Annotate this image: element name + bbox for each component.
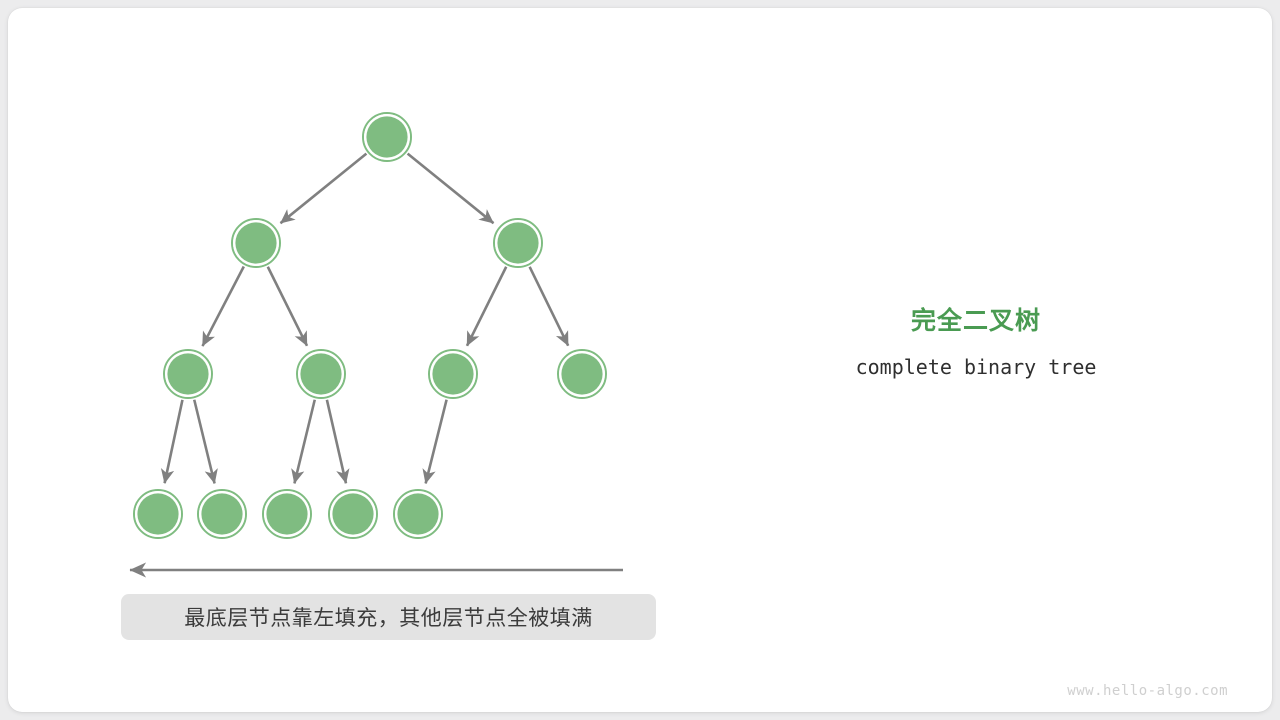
tree-node — [394, 490, 442, 538]
tree-node-disc — [137, 493, 178, 534]
tree-node — [558, 350, 606, 398]
tree-node-disc — [167, 353, 208, 394]
tree-node — [363, 113, 411, 161]
tree-node — [164, 350, 212, 398]
tree-edge — [467, 267, 506, 346]
diagram-card: 完全二叉树 complete binary tree 最底层节点靠左填充，其他层… — [8, 8, 1272, 712]
tree-edge — [426, 400, 447, 484]
tree-node-disc — [332, 493, 373, 534]
tree-node — [263, 490, 311, 538]
watermark: www.hello-algo.com — [1067, 683, 1228, 699]
tree-node — [494, 219, 542, 267]
tree-node-disc — [235, 222, 276, 263]
tree-node-disc — [397, 493, 438, 534]
tree-node — [198, 490, 246, 538]
tree-node — [297, 350, 345, 398]
tree-node-disc — [366, 116, 407, 157]
tree-node-disc — [201, 493, 242, 534]
tree-node-disc — [300, 353, 341, 394]
tree-node — [134, 490, 182, 538]
caption-box: 最底层节点靠左填充，其他层节点全被填满 — [121, 594, 656, 640]
tree-edge — [194, 400, 214, 484]
tree-edge — [408, 154, 494, 224]
tree-node-disc — [497, 222, 538, 263]
tree-edge — [203, 267, 244, 347]
page-canvas: 完全二叉树 complete binary tree 最底层节点靠左填充，其他层… — [0, 0, 1280, 720]
tree-edges — [165, 154, 569, 484]
legend-title-chinese: 完全二叉树 — [776, 304, 1176, 338]
tree-node-disc — [561, 353, 602, 394]
tree-edge — [268, 267, 307, 346]
caption-text: 最底层节点靠左填充，其他层节点全被填满 — [184, 602, 593, 632]
tree-node — [429, 350, 477, 398]
tree-node — [232, 219, 280, 267]
tree-edge — [530, 267, 569, 346]
tree-node-disc — [432, 353, 473, 394]
tree-edge — [327, 400, 346, 483]
tree-nodes — [134, 113, 606, 538]
tree-node-disc — [266, 493, 307, 534]
tree-edge — [280, 154, 366, 224]
tree-edge — [165, 400, 183, 483]
legend-title-english: complete binary tree — [776, 352, 1176, 382]
tree-edge — [294, 400, 314, 484]
tree-node — [329, 490, 377, 538]
